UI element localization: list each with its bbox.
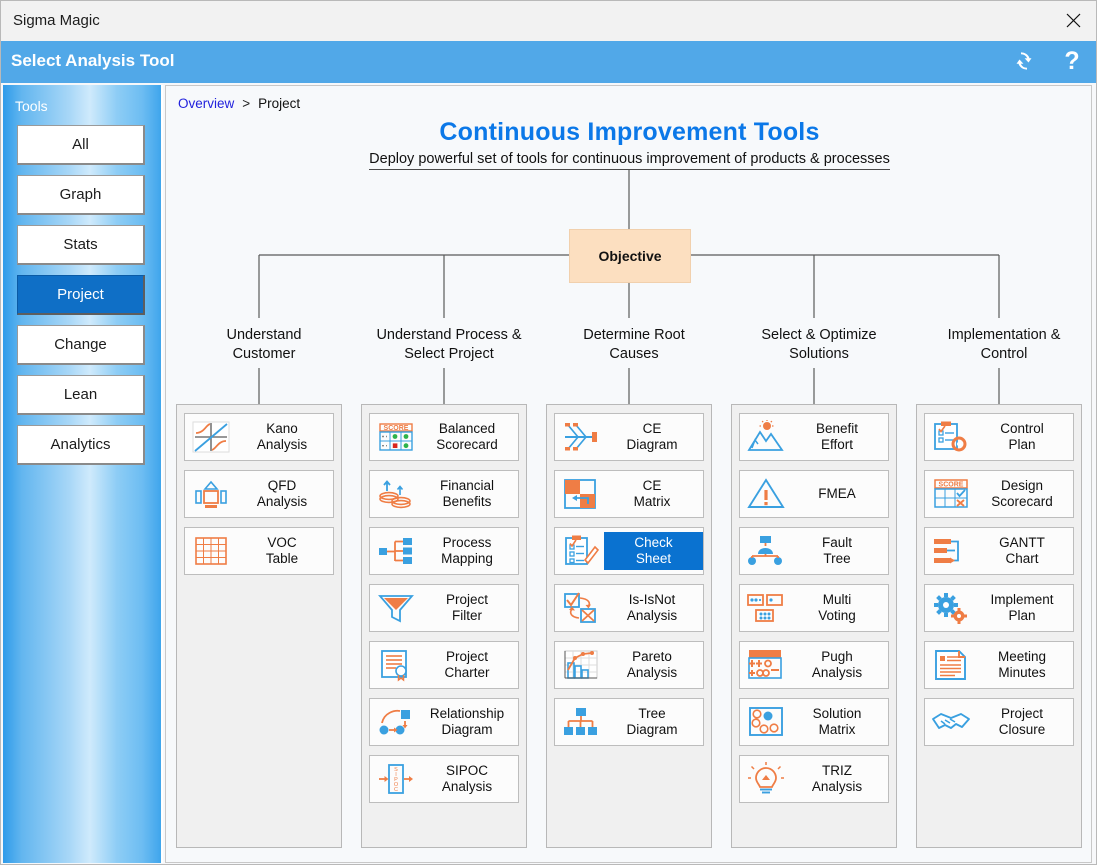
pugh-matrix-icon — [743, 645, 789, 685]
sidebar-item-analytics[interactable]: Analytics — [17, 425, 145, 465]
banner-title: Select Analysis Tool — [11, 51, 174, 71]
tool-label-line2: Scorecard — [419, 437, 515, 453]
tool-label-line2: Filter — [419, 608, 515, 624]
tool-label: FinancialBenefits — [419, 478, 518, 510]
tool-label: PughAnalysis — [789, 649, 888, 681]
tool-label: TRIZAnalysis — [789, 763, 888, 795]
is-isnot-icon — [558, 588, 604, 628]
pareto-chart-icon — [558, 645, 604, 685]
content-pane: Overview>Project Continuous Improvement … — [165, 85, 1092, 863]
tool-label: ProjectClosure — [974, 706, 1073, 738]
ce-matrix-icon — [558, 474, 604, 514]
qfd-house-icon — [188, 474, 234, 514]
tool-button-tree-diagram[interactable]: TreeDiagram — [554, 698, 704, 746]
tool-label-line2: Analysis — [789, 665, 885, 681]
tool-label: TreeDiagram — [604, 706, 703, 738]
tool-label-line1: Balanced — [419, 421, 515, 437]
tool-group-2: CEDiagram CEMatrix CheckSheet Is-IsNotAn… — [546, 404, 712, 848]
sidebar-title: Tools — [15, 98, 48, 114]
column-header-line1: Understand — [179, 326, 349, 345]
tool-label-line1: FMEA — [789, 486, 885, 502]
tool-label-line2: Matrix — [604, 494, 700, 510]
objective-box: Objective — [569, 229, 691, 283]
tool-label-line1: Project — [974, 706, 1070, 722]
tool-button-financial-benefits[interactable]: FinancialBenefits — [369, 470, 519, 518]
tool-label-line1: Solution — [789, 706, 885, 722]
tool-button-process-mapping[interactable]: ProcessMapping — [369, 527, 519, 575]
column-header-line1: Implementation & — [919, 326, 1089, 345]
sidebar-item-label: Analytics — [50, 436, 110, 453]
banner-bar: Select Analysis Tool ? — [1, 41, 1096, 83]
column-header-line2: Causes — [549, 345, 719, 364]
tool-label: BenefitEffort — [789, 421, 888, 453]
column-header-line2: Solutions — [734, 345, 904, 364]
sidebar-item-stats[interactable]: Stats — [17, 225, 145, 265]
tool-label-line2: Tree — [789, 551, 885, 567]
tool-label-line1: Control — [974, 421, 1070, 437]
tool-button-gantt-chart[interactable]: GANTTChart — [924, 527, 1074, 575]
tool-label-line2: Diagram — [604, 722, 700, 738]
tool-label-line1: Project — [419, 592, 515, 608]
tool-label: CheckSheet — [604, 532, 703, 570]
tool-label-line1: GANTT — [974, 535, 1070, 551]
page-title: Continuous Improvement Tools — [166, 118, 1092, 147]
tool-label-line2: Table — [234, 551, 330, 567]
tool-label-line1: Multi — [789, 592, 885, 608]
gears-icon — [928, 588, 974, 628]
tools-sidebar: Tools AllGraphStatsProjectChangeLeanAnal… — [3, 85, 163, 863]
tool-label-line2: Analysis — [604, 665, 700, 681]
coins-arrow-icon — [373, 474, 419, 514]
multi-voting-icon — [743, 588, 789, 628]
tool-label: ImplementPlan — [974, 592, 1073, 624]
fault-tree-icon — [743, 531, 789, 571]
tool-label-line2: Plan — [974, 608, 1070, 624]
document-icon — [928, 645, 974, 685]
tool-label: DesignScorecard — [974, 478, 1073, 510]
breadcrumb: Overview>Project — [178, 96, 300, 111]
tool-button-design-scorecard[interactable]: SCORE DesignScorecard — [924, 470, 1074, 518]
sidebar-item-label: Change — [54, 336, 107, 353]
column-header-line1: Determine Root — [549, 326, 719, 345]
tool-button-is-isnot-analysis[interactable]: Is-IsNotAnalysis — [554, 584, 704, 632]
objective-label: Objective — [598, 248, 661, 264]
flowchart-icon — [373, 531, 419, 571]
column-header-4: Implementation &Control — [919, 326, 1089, 363]
tool-label: CEMatrix — [604, 478, 703, 510]
tool-label-line1: Pugh — [789, 649, 885, 665]
tool-label: SolutionMatrix — [789, 706, 888, 738]
tool-label-line1: Financial — [419, 478, 515, 494]
tool-button-pugh-analysis[interactable]: PughAnalysis — [739, 641, 889, 689]
tool-label-line2: Effort — [789, 437, 885, 453]
gantt-icon — [928, 531, 974, 571]
column-header-1: Understand Process &Select Project — [364, 326, 534, 363]
tool-button-project-filter[interactable]: ProjectFilter — [369, 584, 519, 632]
tool-button-control-plan[interactable]: ControlPlan — [924, 413, 1074, 461]
column-header-line2: Control — [919, 345, 1089, 364]
tool-group-4: ControlPlan SCORE DesignScorecard GANTTC… — [916, 404, 1082, 848]
tool-label: BalancedScorecard — [419, 421, 518, 453]
tool-group-3: BenefitEffort FMEA FaultTree MultiVoting — [731, 404, 897, 848]
tool-button-ce-diagram[interactable]: CEDiagram — [554, 413, 704, 461]
refresh-icon[interactable] — [1010, 47, 1038, 75]
tool-label-line1: Implement — [974, 592, 1070, 608]
tool-label-line1: Meeting — [974, 649, 1070, 665]
tool-label: FaultTree — [789, 535, 888, 567]
tool-label-line1: Kano — [234, 421, 330, 437]
tool-label-line2: Scorecard — [974, 494, 1070, 510]
tool-label: ProcessMapping — [419, 535, 518, 567]
banner-icon-group: ? — [1010, 47, 1086, 75]
tool-label-line2: Minutes — [974, 665, 1070, 681]
warning-triangle-icon — [743, 474, 789, 514]
tool-button-fmea[interactable]: FMEA — [739, 470, 889, 518]
tool-label-line2: Closure — [974, 722, 1070, 738]
tool-button-ce-matrix[interactable]: CEMatrix — [554, 470, 704, 518]
lightbulb-icon — [743, 759, 789, 799]
column-header-3: Select & OptimizeSolutions — [734, 326, 904, 363]
tool-label-line1: Design — [974, 478, 1070, 494]
tool-label-line2: Analysis — [234, 494, 330, 510]
tool-label-line2: Diagram — [419, 722, 515, 738]
sidebar-button-list: AllGraphStatsProjectChangeLeanAnalytics — [17, 125, 147, 475]
window-title-bar: Sigma Magic — [1, 1, 1096, 42]
tool-button-qfd-analysis[interactable]: QFDAnalysis — [184, 470, 334, 518]
tool-label-line1: Project — [419, 649, 515, 665]
solution-matrix-icon — [743, 702, 789, 742]
tool-label-line1: Fault — [789, 535, 885, 551]
tool-label-line1: Check — [608, 535, 699, 551]
window-title: Sigma Magic — [13, 12, 100, 29]
tool-label: ControlPlan — [974, 421, 1073, 453]
tool-group-1: SCORE BalancedScorecard FinancialBenefit… — [361, 404, 527, 848]
tool-label: MultiVoting — [789, 592, 888, 624]
control-plan-icon — [928, 417, 974, 457]
page-subtitle: Deploy powerful set of tools for continu… — [369, 151, 890, 170]
sidebar-item-label: Graph — [60, 186, 102, 203]
page-headline: Continuous Improvement Tools Deploy powe… — [166, 118, 1092, 170]
tool-button-multi-voting[interactable]: MultiVoting — [739, 584, 889, 632]
tool-button-balanced-scorecard[interactable]: SCORE BalancedScorecard — [369, 413, 519, 461]
tool-button-pareto-analysis[interactable]: ParetoAnalysis — [554, 641, 704, 689]
tool-label: VOCTable — [234, 535, 333, 567]
tool-label-line2: Mapping — [419, 551, 515, 567]
svg-text:SCORE: SCORE — [939, 482, 964, 489]
tool-label-line2: Analysis — [419, 779, 515, 795]
checklist-icon — [558, 531, 604, 571]
tool-button-solution-matrix[interactable]: SolutionMatrix — [739, 698, 889, 746]
tool-label-line2: Matrix — [789, 722, 885, 738]
tool-label-line1: Tree — [604, 706, 700, 722]
tool-label: CEDiagram — [604, 421, 703, 453]
column-header-2: Determine RootCauses — [549, 326, 719, 363]
certificate-icon — [373, 645, 419, 685]
sipoc-icon: S I P O C — [373, 759, 419, 799]
tool-label-line1: TRIZ — [789, 763, 885, 779]
svg-text:C: C — [394, 787, 398, 793]
tool-label-line2: Analysis — [604, 608, 700, 624]
breadcrumb-separator: > — [242, 96, 250, 111]
tool-button-kano-analysis[interactable]: KanoAnalysis — [184, 413, 334, 461]
tool-label-line2: Chart — [974, 551, 1070, 567]
tool-button-meeting-minutes[interactable]: MeetingMinutes — [924, 641, 1074, 689]
column-header-line2: Select Project — [364, 345, 534, 364]
tool-label: ProjectFilter — [419, 592, 518, 624]
sigma-magic-window: Sigma Magic Select Analysis Tool ? Tools… — [0, 0, 1097, 865]
sidebar-item-label: Stats — [63, 236, 97, 253]
sidebar-item-label: All — [72, 136, 89, 153]
sidebar-item-project[interactable]: Project — [17, 275, 145, 315]
tool-button-voc-table[interactable]: VOCTable — [184, 527, 334, 575]
tool-label: MeetingMinutes — [974, 649, 1073, 681]
tool-label-line1: Process — [419, 535, 515, 551]
mountain-flag-icon — [743, 417, 789, 457]
tool-label-line1: QFD — [234, 478, 330, 494]
tool-label: Is-IsNotAnalysis — [604, 592, 703, 624]
tool-button-sipoc-analysis[interactable]: S I P O C SIPOCAnalysis — [369, 755, 519, 803]
column-header-0: UnderstandCustomer — [179, 326, 349, 363]
tool-label: GANTTChart — [974, 535, 1073, 567]
column-header-line1: Understand Process & — [364, 326, 534, 345]
tool-button-relationship-diagram[interactable]: RelationshipDiagram — [369, 698, 519, 746]
handshake-icon — [928, 702, 974, 742]
sidebar-item-label: Project — [57, 286, 104, 303]
tool-button-project-closure[interactable]: ProjectClosure — [924, 698, 1074, 746]
tool-label-line1: SIPOC — [419, 763, 515, 779]
relationship-icon — [373, 702, 419, 742]
voc-grid-icon — [188, 531, 234, 571]
tool-button-triz-analysis[interactable]: TRIZAnalysis — [739, 755, 889, 803]
tool-label: KanoAnalysis — [234, 421, 333, 453]
tool-label-line2: Voting — [789, 608, 885, 624]
funnel-icon — [373, 588, 419, 628]
tool-label-line2: Sheet — [608, 551, 699, 567]
column-header-line2: Customer — [179, 345, 349, 364]
sidebar-item-label: Lean — [64, 386, 97, 403]
tool-label-line2: Analysis — [789, 779, 885, 795]
kano-curve-icon — [188, 417, 234, 457]
tool-label-line1: Is-IsNot — [604, 592, 700, 608]
tool-label-line2: Diagram — [604, 437, 700, 453]
tool-label-line2: Charter — [419, 665, 515, 681]
tool-label-line2: Analysis — [234, 437, 330, 453]
breadcrumb-overview-link[interactable]: Overview — [178, 96, 234, 111]
tool-group-0: KanoAnalysis QFDAnalysis VOCTable — [176, 404, 342, 848]
breadcrumb-current: Project — [258, 96, 300, 111]
tool-label-line1: Pareto — [604, 649, 700, 665]
tool-label: FMEA — [789, 486, 888, 502]
close-icon[interactable] — [1050, 1, 1096, 40]
scorecard-icon: SCORE — [373, 417, 419, 457]
tool-button-check-sheet[interactable]: CheckSheet — [554, 527, 704, 575]
tool-label-line1: Benefit — [789, 421, 885, 437]
tool-label: QFDAnalysis — [234, 478, 333, 510]
tool-label: ProjectCharter — [419, 649, 518, 681]
tool-label-line1: VOC — [234, 535, 330, 551]
sidebar-item-all[interactable]: All — [17, 125, 145, 165]
sidebar-item-change[interactable]: Change — [17, 325, 145, 365]
tree-diagram-icon — [558, 702, 604, 742]
tool-label: SIPOCAnalysis — [419, 763, 518, 795]
fishbone-icon — [558, 417, 604, 457]
sidebar-item-graph[interactable]: Graph — [17, 175, 145, 215]
tool-label-line1: CE — [604, 478, 700, 494]
sidebar-item-lean[interactable]: Lean — [17, 375, 145, 415]
tool-label-line1: CE — [604, 421, 700, 437]
tool-label: ParetoAnalysis — [604, 649, 703, 681]
column-header-line1: Select & Optimize — [734, 326, 904, 345]
tool-button-benefit-effort[interactable]: BenefitEffort — [739, 413, 889, 461]
tool-label-line2: Plan — [974, 437, 1070, 453]
tool-button-project-charter[interactable]: ProjectCharter — [369, 641, 519, 689]
svg-text:SCORE: SCORE — [384, 425, 409, 432]
help-icon[interactable]: ? — [1058, 47, 1086, 75]
design-scorecard-icon: SCORE — [928, 474, 974, 514]
tool-label-line2: Benefits — [419, 494, 515, 510]
tool-label-line1: Relationship — [419, 706, 515, 722]
tool-button-implement-plan[interactable]: ImplementPlan — [924, 584, 1074, 632]
tool-button-fault-tree[interactable]: FaultTree — [739, 527, 889, 575]
tool-label: RelationshipDiagram — [419, 706, 518, 738]
